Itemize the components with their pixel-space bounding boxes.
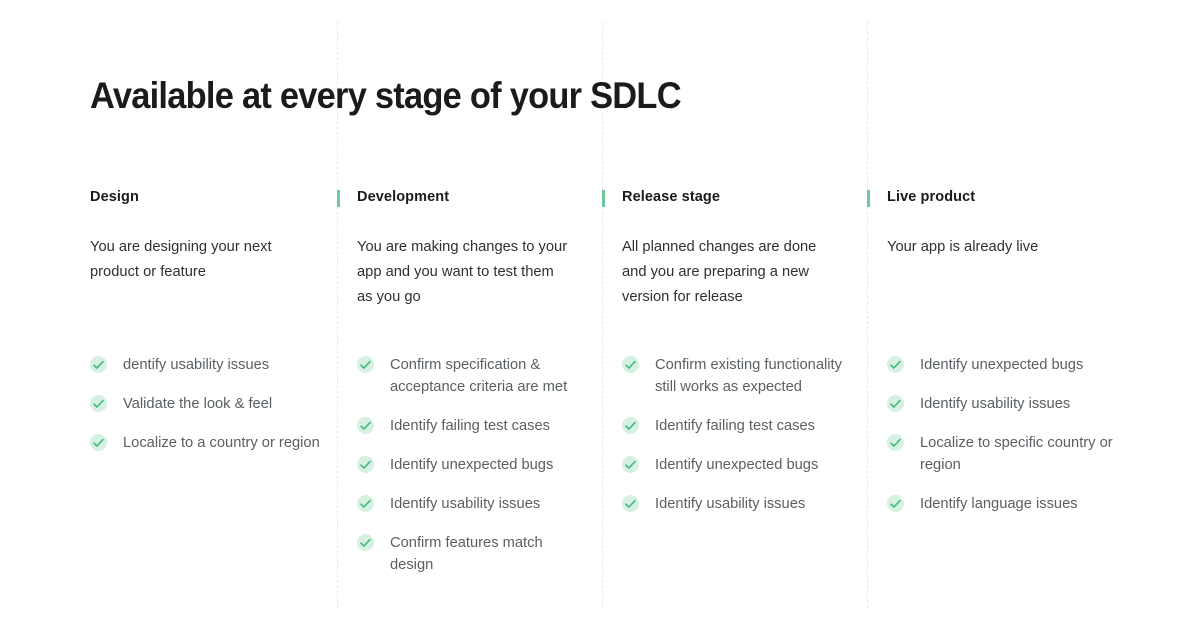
stage-description-release-stage: All planned changes are done and you are… — [622, 235, 838, 310]
list-item: Identify usability issues — [887, 393, 1119, 415]
list-item: Identify usability issues — [622, 493, 854, 515]
check-circle-icon — [90, 356, 107, 373]
list-item-label: Identify usability issues — [655, 496, 805, 512]
list-item-label: Localize to specific country or region — [920, 435, 1113, 473]
check-circle-icon — [357, 495, 374, 512]
stage-heading-release-stage: Release stage — [622, 188, 862, 206]
list-item: Identify unexpected bugs — [887, 354, 1119, 376]
list-item-label: dentify usability issues — [123, 357, 269, 373]
stage-heading-design: Design — [90, 188, 330, 206]
check-circle-icon — [357, 534, 374, 551]
stage-column-release-stage: Release stage All planned changes are do… — [622, 188, 862, 310]
check-circle-icon — [887, 434, 904, 451]
list-item-label: Identify failing test cases — [655, 418, 815, 434]
list-item: Validate the look & feel — [90, 393, 322, 415]
check-circle-icon — [90, 434, 107, 451]
stage-heading-live-product: Live product — [887, 188, 1127, 206]
check-circle-icon — [622, 417, 639, 434]
stage-column-design: Design You are designing your next produ… — [90, 188, 330, 285]
list-item: Localize to a country or region — [90, 432, 322, 454]
accent-bar-release-stage — [602, 190, 605, 207]
list-item-label: Localize to a country or region — [123, 435, 320, 451]
list-item-label: Identify language issues — [920, 496, 1078, 512]
stage-column-development: Development You are making changes to yo… — [357, 188, 597, 310]
list-item: Identify unexpected bugs — [357, 454, 589, 476]
check-circle-icon — [622, 356, 639, 373]
stage-column-live-product: Live product Your app is already live Id… — [887, 188, 1127, 260]
check-circle-icon — [357, 356, 374, 373]
list-item-label: Confirm features match design — [390, 535, 543, 573]
list-item: Localize to specific country or region — [887, 432, 1119, 476]
check-circle-icon — [90, 395, 107, 412]
check-circle-icon — [622, 456, 639, 473]
check-circle-icon — [357, 456, 374, 473]
list-item-label: Confirm specification & acceptance crite… — [390, 357, 567, 395]
checklist-release-stage: Confirm existing functionality still wor… — [622, 354, 854, 515]
list-item: Confirm specification & acceptance crite… — [357, 354, 589, 398]
check-circle-icon — [622, 495, 639, 512]
column-divider-3 — [867, 22, 868, 608]
stage-description-design: You are designing your next product or f… — [90, 235, 304, 285]
list-item-label: Confirm existing functionality still wor… — [655, 357, 842, 395]
list-item-label: Identify usability issues — [920, 396, 1070, 412]
list-item: Identify unexpected bugs — [622, 454, 854, 476]
check-circle-icon — [887, 395, 904, 412]
page-title: Available at every stage of your SDLC — [90, 73, 681, 119]
list-item-label: Identify unexpected bugs — [655, 457, 818, 473]
list-item: Identify failing test cases — [357, 415, 589, 437]
sdlc-stages-infographic: Available at every stage of your SDLC De… — [0, 0, 1200, 630]
accent-bar-live-product — [867, 190, 870, 207]
check-circle-icon — [357, 417, 374, 434]
stage-description-development: You are making changes to your app and y… — [357, 235, 571, 310]
list-item-label: Validate the look & feel — [123, 396, 272, 412]
list-item: dentify usability issues — [90, 354, 322, 376]
list-item: Confirm features match design — [357, 532, 589, 576]
checklist-design: dentify usability issues Validate the lo… — [90, 354, 322, 454]
checklist-development: Confirm specification & acceptance crite… — [357, 354, 589, 576]
list-item: Identify usability issues — [357, 493, 589, 515]
list-item: Identify language issues — [887, 493, 1119, 515]
list-item-label: Identify usability issues — [390, 496, 540, 512]
stage-description-live-product: Your app is already live — [887, 235, 1105, 260]
checklist-live-product: Identify unexpected bugs Identify usabil… — [887, 354, 1119, 515]
check-circle-icon — [887, 356, 904, 373]
list-item: Identify failing test cases — [622, 415, 854, 437]
list-item: Confirm existing functionality still wor… — [622, 354, 854, 398]
check-circle-icon — [887, 495, 904, 512]
list-item-label: Identify failing test cases — [390, 418, 550, 434]
accent-bar-development — [337, 190, 340, 207]
stage-heading-development: Development — [357, 188, 597, 206]
list-item-label: Identify unexpected bugs — [920, 357, 1083, 373]
list-item-label: Identify unexpected bugs — [390, 457, 553, 473]
